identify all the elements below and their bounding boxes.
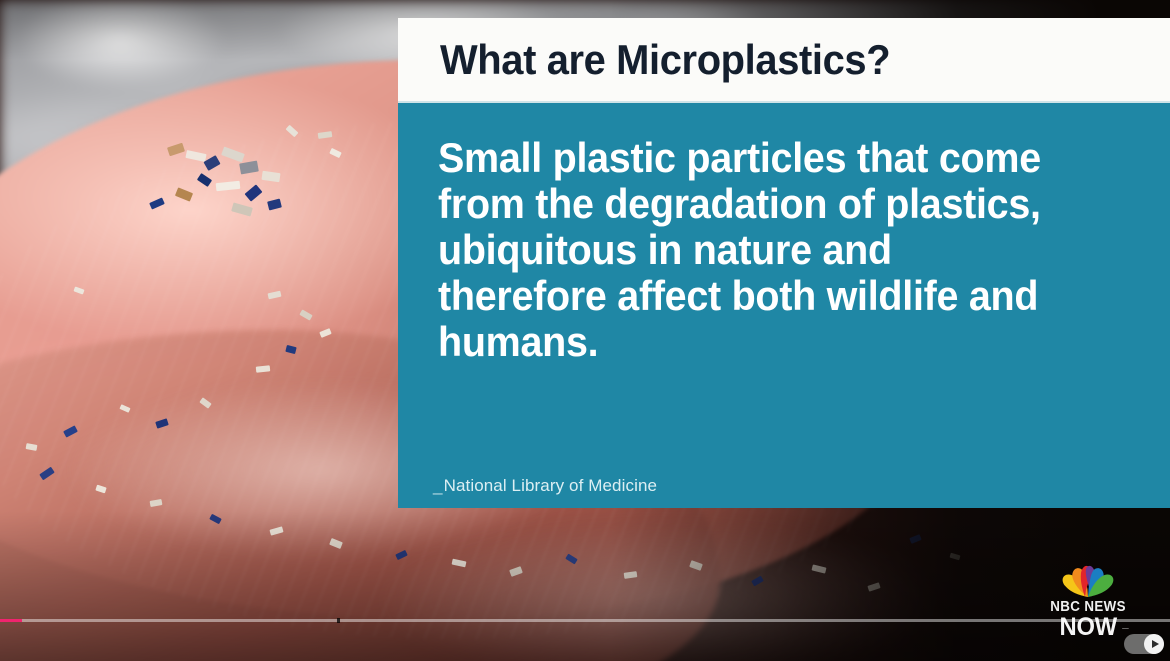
- progress-bar-track[interactable]: [0, 619, 1170, 622]
- body-line: humans.: [438, 319, 1088, 365]
- video-player[interactable]: What are Microplastics? Small plastic pa…: [0, 0, 1170, 661]
- body-line: Small plastic particles that come: [438, 135, 1088, 181]
- play-toggle-knob[interactable]: [1144, 634, 1164, 654]
- body-line: therefore affect both wildlife and: [438, 273, 1088, 319]
- nbc-peacock-icon: [1059, 560, 1117, 598]
- lower-third-title: What are Microplastics?: [440, 36, 890, 84]
- chapter-marker[interactable]: [337, 618, 340, 623]
- trademark-mark: _: [1122, 611, 1128, 636]
- progress-bar-played: [0, 619, 22, 622]
- play-icon: [1152, 640, 1159, 648]
- lower-third-header: What are Microplastics?: [398, 18, 1170, 103]
- play-toggle-button[interactable]: [1124, 634, 1164, 654]
- source-attribution: _National Library of Medicine: [433, 476, 657, 496]
- vignette-bottom: [0, 511, 1170, 661]
- source-label: National Library of Medicine: [444, 476, 658, 495]
- lower-third-graphic: What are Microplastics? Small plastic pa…: [398, 18, 1170, 508]
- lower-third-body: Small plastic particles that come from t…: [398, 103, 1170, 508]
- body-line: ubiquitous in nature and: [438, 227, 1088, 273]
- source-dash: _: [433, 476, 443, 495]
- body-line: from the degradation of plastics,: [438, 181, 1088, 227]
- network-bug-now-text: NOW: [1059, 613, 1116, 641]
- network-bug: NBC NEWS NOW _: [1034, 560, 1142, 640]
- lower-third-body-text: Small plastic particles that come from t…: [438, 135, 1088, 365]
